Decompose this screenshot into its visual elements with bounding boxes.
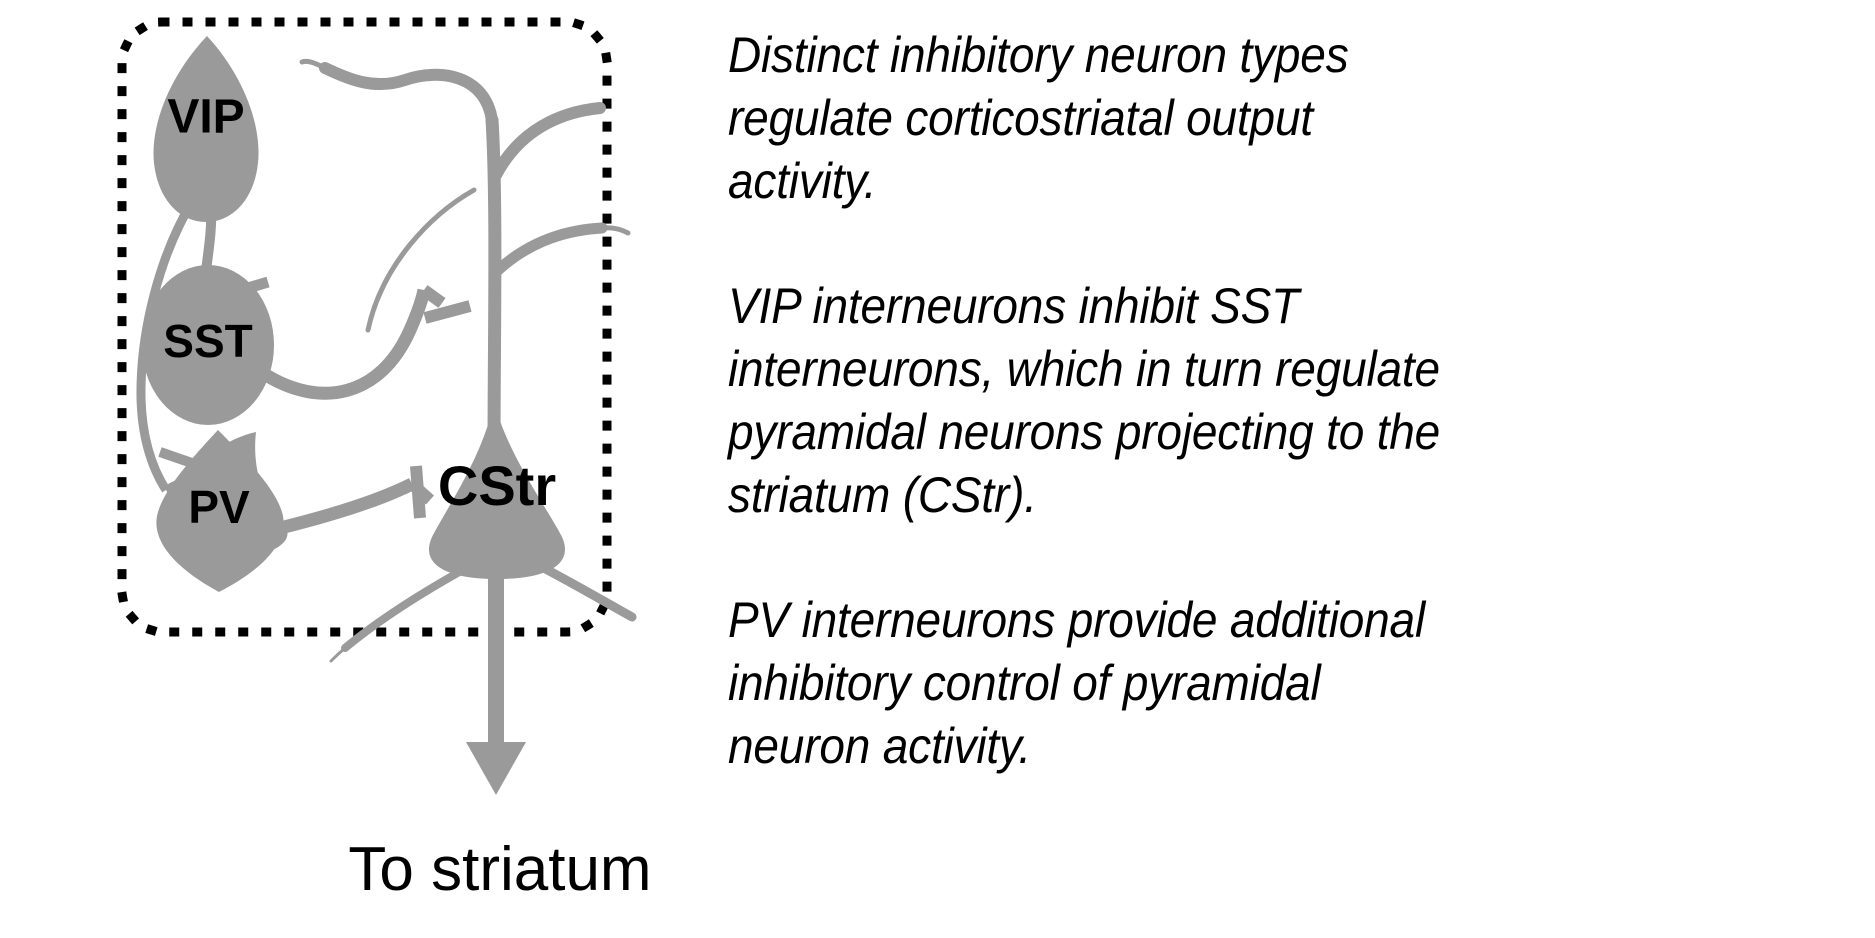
explanation-paragraph-3: PV interneurons provide additional inhib… (728, 589, 1464, 778)
vip-soma-shape (153, 36, 258, 222)
cstr-soma-shape (429, 400, 565, 579)
sst-soma-shape (142, 265, 274, 425)
to-striatum-caption: To striatum (348, 835, 651, 904)
circuit-svg: CStr VIP SST (0, 0, 715, 938)
synapse-sst-to-cstr (266, 290, 470, 393)
neuron-vip[interactable]: VIP (153, 36, 258, 222)
neuron-cstr[interactable]: CStr (429, 400, 565, 579)
figure-root: CStr VIP SST (0, 0, 1875, 938)
explanation-paragraph-2: VIP interneurons inhibit SST interneuron… (728, 275, 1464, 527)
explanation-text-panel: Distinct inhibitory neuron types regulat… (728, 0, 1868, 938)
circuit-diagram-panel: CStr VIP SST (0, 0, 715, 938)
synapse-pv-to-cstr (272, 466, 430, 530)
explanation-paragraph-1: Distinct inhibitory neuron types regulat… (728, 24, 1464, 213)
neuron-sst[interactable]: SST (142, 265, 274, 425)
